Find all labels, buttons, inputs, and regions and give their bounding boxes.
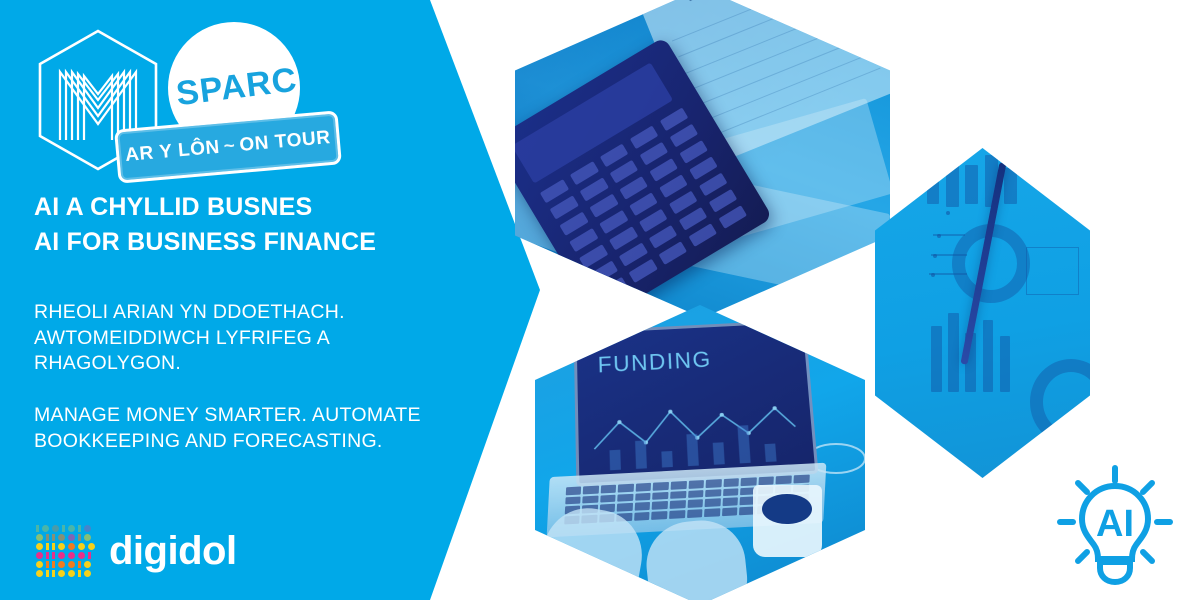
spiral-binding-icon [683, 0, 800, 1]
laptop-screen-graphic: FUNDING [573, 320, 818, 487]
hex-photo-reports [875, 148, 1090, 478]
ai-badge-text: AI [1096, 503, 1134, 545]
headline-block: AI A CHYLLID BUSNES AI FOR BUSINESS FINA… [34, 190, 434, 259]
hex-photo-calculator [515, 0, 890, 318]
headline-welsh: AI A CHYLLID BUSNES [34, 190, 434, 225]
tour-separator: ~ [219, 135, 240, 158]
digidol-logo[interactable]: digidol [36, 522, 237, 580]
hex-photo-funding: FUNDING [535, 305, 865, 600]
laptop-screen-label: FUNDING [597, 346, 712, 378]
digidol-wordmark: digidol [109, 529, 237, 574]
pie-chart-icon [1030, 359, 1090, 444]
coffee-mug-graphic [753, 485, 822, 557]
body-english: MANAGE MONEY SMARTER. AUTOMATE BOOKKEEPI… [34, 403, 434, 454]
sparc-logo[interactable]: SPARC AR Y LÔN~ON TOUR [28, 20, 328, 180]
body-copy-block: RHEOLI ARIAN YN DDOETHACH. AWTOMEIDDIWCH… [34, 300, 434, 481]
tour-label-welsh: AR Y LÔN [124, 137, 220, 166]
body-welsh: RHEOLI ARIAN YN DDOETHACH. AWTOMEIDDIWCH… [34, 300, 434, 377]
screen-line-chart-icon [587, 384, 805, 474]
event-banner: FUNDING [0, 0, 1200, 600]
tour-label-english: ON TOUR [239, 127, 332, 156]
binary-dots-icon [36, 525, 95, 577]
ai-lightbulb-icon: AI [1052, 462, 1178, 588]
headline-english: AI FOR BUSINESS FINANCE [34, 225, 434, 260]
